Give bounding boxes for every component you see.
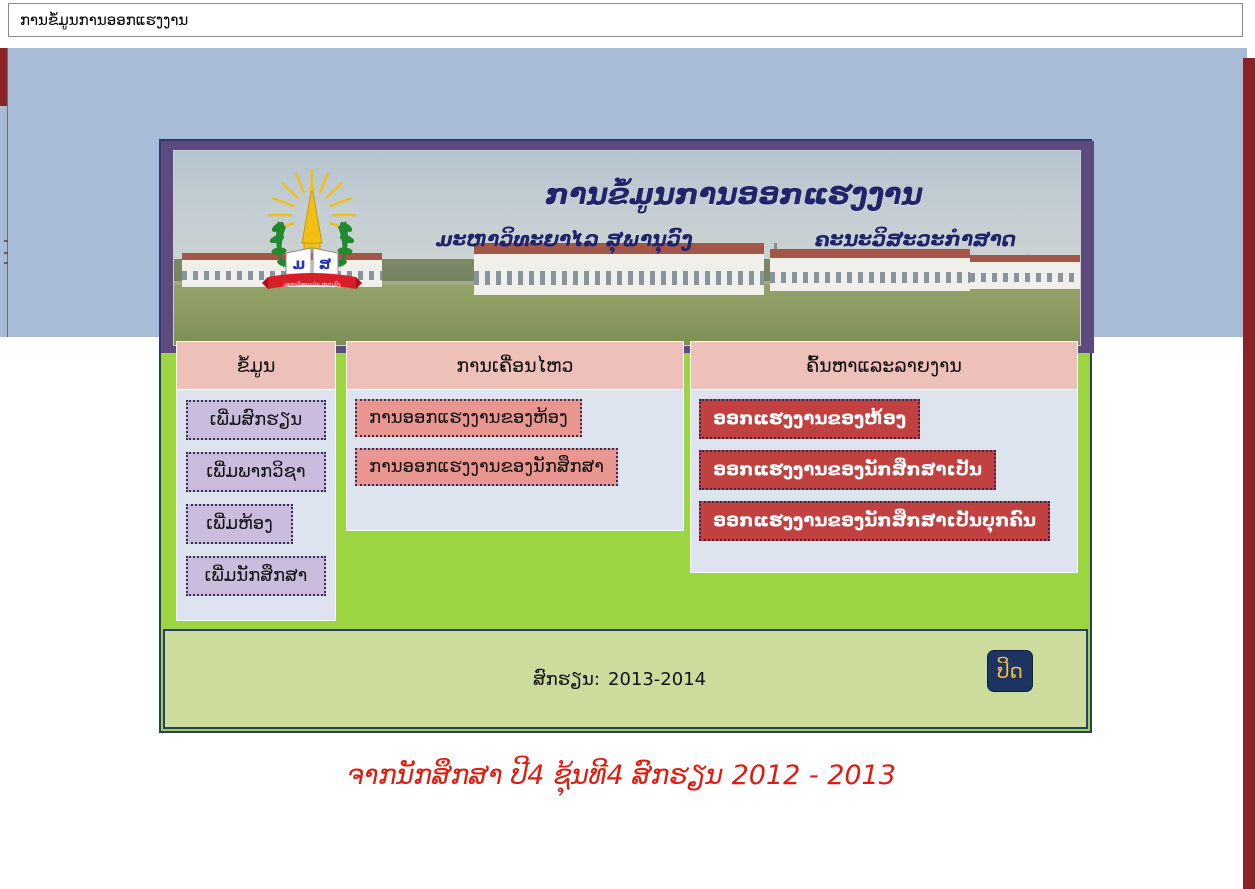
right-edge-strip [1243, 58, 1255, 889]
banner-subtitle-right: ຄະນະວິສະວະກຳສາດ [815, 227, 1016, 251]
panel-activity-header: ການເຄື່ອນໄຫວ [347, 342, 683, 390]
screen: ການຂໍ້ມູນການອອກແຮງງານ [0, 0, 1255, 889]
panel-search-report: ຄົ້ນຫາແລະລາຍງານ ອອກແຮງງານຂອງຫ້ອງ ອອກແຮງງ… [690, 341, 1078, 573]
panel-data-body: ເພີ່ມສົກຮຽນ ເພີ່ມພາກວິຊາ ເພີ່ມຫ້ອງ ເພີ່ມ… [177, 390, 335, 606]
university-emblem-icon: ມ ສ ມະຫາວິທະຍາໄລ ສຸພານຸວົງ [256, 165, 368, 300]
school-year-label: ສົກຮຽນ: [533, 669, 600, 690]
report-student-labor-individual-button[interactable]: ອອກແຮງງານຂອງນັກສຶກສາເປັນບຸກຄົນ [699, 501, 1050, 541]
class-labor-activity-button[interactable]: ການອອກແຮງງານຂອງຫ້ອງ [355, 399, 582, 437]
panel-search-report-body: ອອກແຮງງານຂອງຫ້ອງ ອອກແຮງງານຂອງນັກສຶກສາເປັ… [691, 390, 1077, 550]
student-labor-activity-button[interactable]: ການອອກແຮງງານຂອງນັກສຶກສາ [355, 448, 618, 486]
application-window: ມ ສ ມະຫາວິທະຍາໄລ ສຸພານຸວົງ ການຂໍ້ມູນການອ… [159, 139, 1092, 733]
svg-text:ມ: ມ [293, 255, 306, 273]
add-department-button[interactable]: ເພີ່ມພາກວິຊາ [186, 452, 326, 492]
banner-subtitle: ມະຫາວິທະຍາໄລ ສຸພານຸວົງ ຄະນະວິສະວະກຳສາດ [396, 227, 1056, 251]
panel-data: ຂໍ້ມູນ ເພີ່ມສົກຮຽນ ເພີ່ມພາກວິຊາ ເພີ່ມຫ້ອ… [176, 341, 336, 621]
panel-activity: ການເຄື່ອນໄຫວ ການອອກແຮງງານຂອງຫ້ອງ ການອອກແ… [346, 341, 684, 531]
header-banner: ມ ສ ມະຫາວິທະຍາໄລ ສຸພານຸວົງ ການຂໍ້ມູນການອ… [173, 150, 1081, 346]
panel-data-header: ຂໍ້ມູນ [177, 342, 335, 390]
report-student-labor-button[interactable]: ອອກແຮງງານຂອງນັກສຶກສາເປັນ [699, 450, 996, 490]
title-bar: ການຂໍ້ມູນການອອກແຮງງານ [8, 3, 1243, 37]
svg-text:ສ: ສ [319, 255, 332, 273]
window-title: ການຂໍ້ມູນການອອກແຮງງານ [9, 13, 188, 28]
report-class-labor-button[interactable]: ອອກແຮງງານຂອງຫ້ອງ [699, 399, 920, 439]
school-year-value: 2013-2014 [608, 669, 706, 690]
edge-tick-3 [4, 262, 8, 264]
add-class-button[interactable]: ເພີ່ມຫ້ອງ [186, 504, 293, 544]
footer-panel: ສົກຮຽນ: 2013-2014 ປິດ [163, 629, 1088, 729]
panel-activity-body: ການອອກແຮງງານຂອງຫ້ອງ ການອອກແຮງງານຂອງນັກສຶ… [347, 390, 683, 495]
left-divider-line [7, 48, 8, 337]
left-edge-strip [0, 48, 7, 106]
edge-tick-2 [4, 252, 8, 254]
banner-building-4 [970, 255, 1080, 289]
columns-area: ຂໍ້ມູນ ເພີ່ມສົກຮຽນ ເພີ່ມພາກວິຊາ ເພີ່ມຫ້ອ… [173, 341, 1081, 625]
panel-search-report-header: ຄົ້ນຫາແລະລາຍງານ [691, 342, 1077, 390]
banner-building-3 [770, 249, 970, 291]
add-school-year-button[interactable]: ເພີ່ມສົກຮຽນ [186, 400, 326, 440]
banner-subtitle-left: ມະຫາວິທະຍາໄລ ສຸພານຸວົງ [436, 227, 692, 251]
close-button[interactable]: ປິດ [987, 650, 1033, 692]
page-caption: ຈາກນັກສຶກສາ ປີ4 ຊຸ້ນທີ4 ສົກຮຽນ 2012 - 20… [0, 760, 1243, 791]
add-student-button[interactable]: ເພີ່ມນັກສຶກສາ [186, 556, 326, 596]
emblem-ribbon-text: ມະຫາວິທະຍາໄລ ສຸພານຸວົງ [283, 280, 341, 288]
banner-title: ການຂໍ້ມູນການອອກແຮງງານ [454, 177, 1014, 211]
edge-tick-1 [4, 240, 8, 242]
